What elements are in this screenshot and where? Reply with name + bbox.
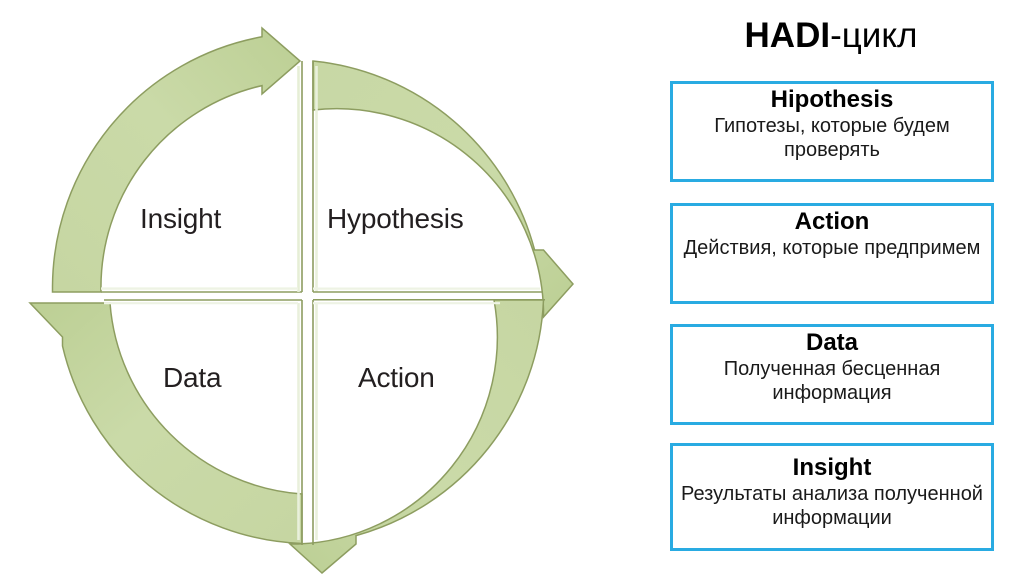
- info-box-description: Действия, которые предпримем: [673, 236, 991, 260]
- cycle-label-data: Data: [163, 362, 221, 394]
- cycle-label-hypothesis: Hypothesis: [327, 203, 464, 235]
- info-box-data: Data Полученная бесценная информация: [670, 324, 994, 425]
- arrow-segment-action: [290, 300, 545, 573]
- arrow-segment-data: [30, 300, 310, 545]
- info-box-insight: Insight Результаты анализа полученной ин…: [670, 443, 994, 551]
- arrow-segment-insight: [53, 28, 303, 292]
- info-box-action: Action Действия, которые предпримем: [670, 203, 994, 304]
- cycle-label-action: Action: [358, 362, 435, 394]
- cycle-arrows-graphic: [0, 0, 640, 574]
- info-box-description: Гипотезы, которые будем проверять: [673, 114, 991, 162]
- info-box-title: Hipothesis: [673, 87, 991, 114]
- info-box-title: Data: [673, 330, 991, 357]
- cycle-label-insight: Insight: [140, 203, 221, 235]
- hadi-cycle-diagram: Insight Hypothesis Action Data: [0, 0, 640, 574]
- page-title-strong: HADI: [745, 16, 831, 55]
- arrow-segment-hypothesis: [313, 61, 573, 317]
- info-box-title: Action: [673, 209, 991, 236]
- info-box-description: Полученная бесценная информация: [673, 357, 991, 405]
- page-title-rest: -цикл: [830, 16, 917, 55]
- info-box-title: Insight: [673, 455, 991, 482]
- sidebar-panel: HADI-цикл Hipothesis Гипотезы, которые б…: [651, 0, 1024, 574]
- info-box-hipothesis: Hipothesis Гипотезы, которые будем прове…: [670, 81, 994, 182]
- info-box-description: Результаты анализа полученной информации: [673, 482, 991, 530]
- page-title: HADI-цикл: [651, 16, 1011, 56]
